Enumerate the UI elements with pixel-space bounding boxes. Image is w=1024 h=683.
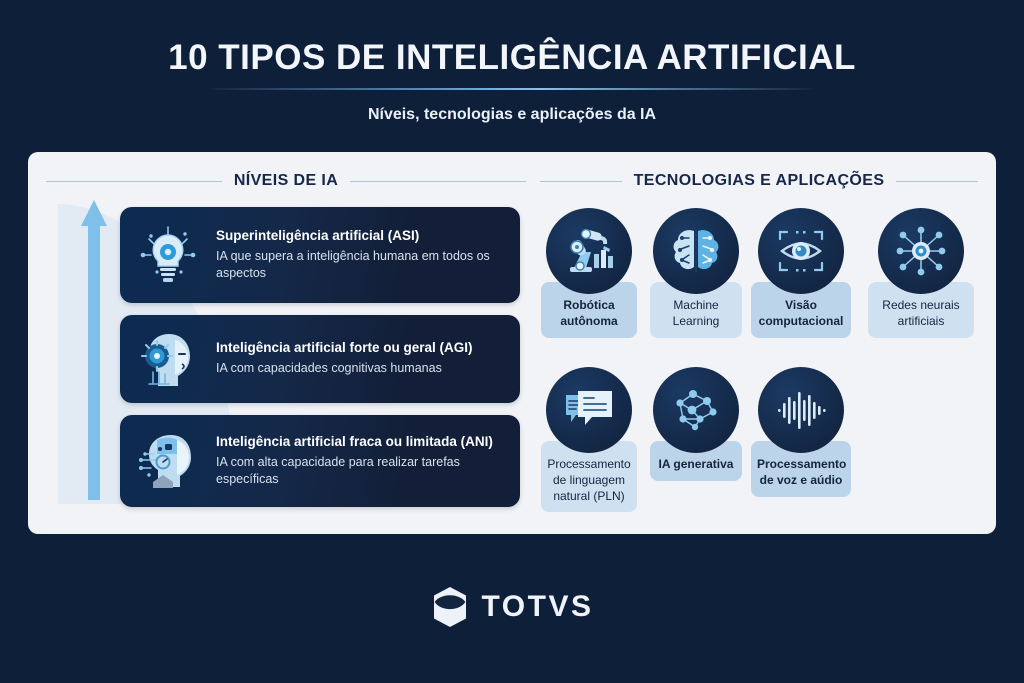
level-description: IA que supera a inteligência humana em t…: [216, 248, 506, 283]
audio-wave-icon: [758, 367, 844, 453]
level-title: Inteligência artificial fraca ou limitad…: [216, 434, 506, 451]
section-heading-levels-label: NÍVEIS DE IA: [234, 172, 338, 190]
level-title: Superinteligência artificial (ASI): [216, 228, 506, 245]
level-title: Inteligência artificial forte ou geral (…: [216, 340, 473, 357]
robot-arm-icon: [546, 208, 632, 294]
level-card-text: Inteligência artificial fraca ou limitad…: [216, 434, 520, 488]
tech-card-voz-audio[interactable]: Processamento de voz e aúdio: [751, 367, 851, 497]
totvs-hexagon-logo: [431, 586, 469, 628]
title-divider: [212, 88, 812, 90]
level-card-ani[interactable]: Inteligência artificial fraca ou limitad…: [120, 415, 520, 507]
neural-hub-icon: [878, 208, 964, 294]
heading-rule-right: [350, 181, 526, 182]
upward-arrow-icon: [80, 200, 108, 500]
lightbulb-circuit-icon: [120, 222, 216, 288]
heading-rule-right: [896, 181, 978, 182]
level-card-agi[interactable]: Inteligência artificial forte ou geral (…: [120, 315, 520, 403]
level-card-text: Superinteligência artificial (ASI) IA qu…: [216, 228, 520, 282]
page-subtitle: Níveis, tecnologias e aplicações da IA: [0, 106, 1024, 124]
tech-card-robotica[interactable]: Robótica autônoma: [541, 208, 637, 338]
section-heading-levels: NÍVEIS DE IA: [46, 170, 526, 192]
tech-card-redes-neurais[interactable]: Redes neurais artificiais: [868, 208, 974, 338]
level-description: IA com alta capacidade para realizar tar…: [216, 454, 506, 489]
level-card-asi[interactable]: Superinteligência artificial (ASI) IA qu…: [120, 207, 520, 303]
infographic-root: 10 TIPOS DE INTELIGÊNCIA ARTIFICIAL Níve…: [0, 0, 1024, 683]
robot-head-circuit-icon: [120, 428, 216, 494]
tech-card-machine-learning[interactable]: Machine Learning: [650, 208, 742, 338]
tech-card-ia-generativa[interactable]: IA generativa: [650, 367, 742, 481]
brand-name: TOTVS: [482, 590, 594, 624]
footer-logo: TOTVS: [0, 586, 1024, 628]
section-heading-technologies-label: TECNOLOGIAS E APLICAÇÕES: [634, 172, 885, 190]
level-description: IA com capacidades cognitivas humanas: [216, 360, 473, 377]
eye-scan-icon: [758, 208, 844, 294]
node-graph-icon: [653, 367, 739, 453]
tech-card-pln[interactable]: Processamento de linguagem natural (PLN): [541, 367, 637, 512]
chat-bubbles-icon: [546, 367, 632, 453]
level-card-text: Inteligência artificial forte ou geral (…: [216, 340, 487, 377]
content-panel: NÍVEIS DE IA TECNOLOGIAS E APLICAÇÕES: [28, 152, 996, 534]
page-title: 10 TIPOS DE INTELIGÊNCIA ARTIFICIAL: [0, 38, 1024, 78]
robot-head-gear-icon: [120, 326, 216, 392]
heading-rule-left: [540, 181, 622, 182]
heading-rule-left: [46, 181, 222, 182]
brain-circuit-icon: [653, 208, 739, 294]
section-heading-technologies: TECNOLOGIAS E APLICAÇÕES: [540, 170, 978, 192]
tech-card-visao-computacional[interactable]: Visão computacional: [751, 208, 851, 338]
